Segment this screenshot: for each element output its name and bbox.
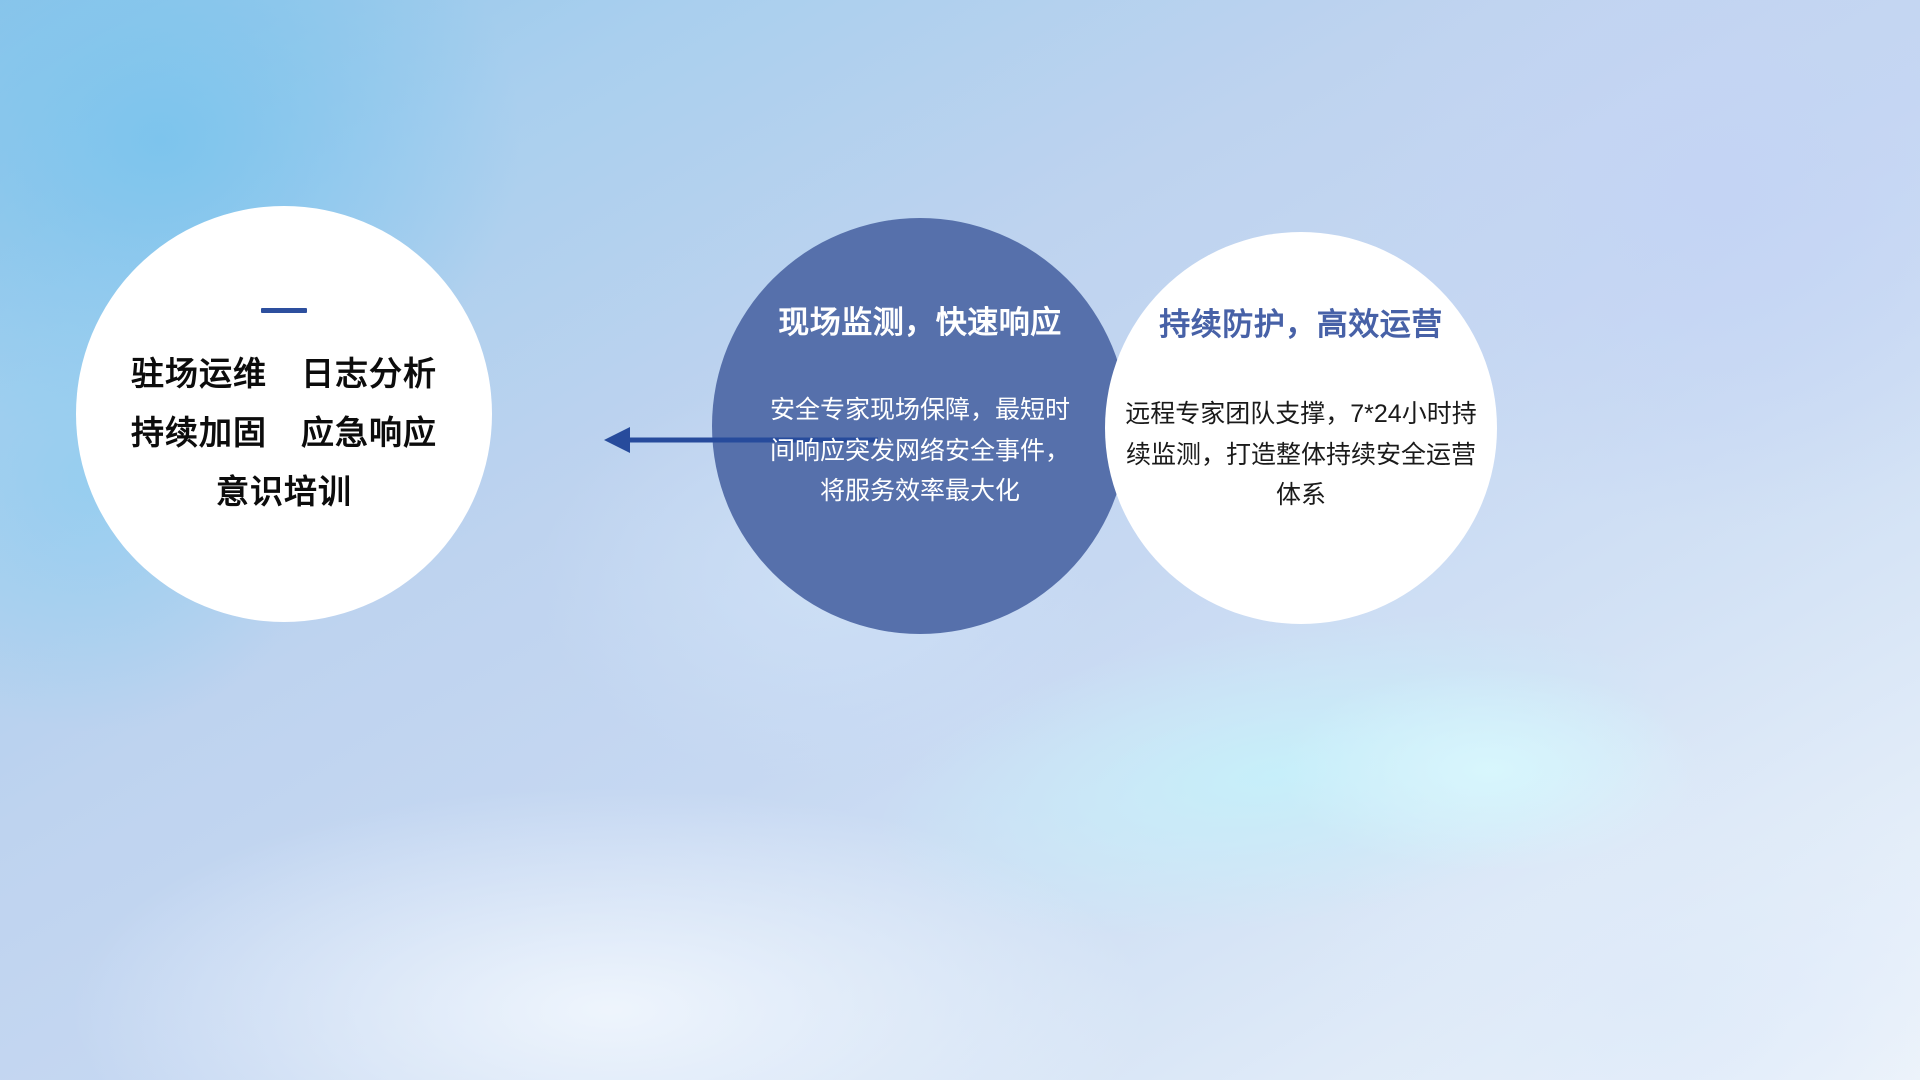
left-card-item-list: 驻场运维 日志分析 持续加固 应急响应 意识培训: [131, 357, 437, 508]
list-item: 持续加固 应急响应: [131, 416, 437, 449]
middle-card-title: 现场监测，快速响应: [778, 306, 1062, 340]
slide-canvas: 驻场运维 日志分析 持续加固 应急响应 意识培训 现场监测，快速响应 安全专家现…: [0, 0, 1920, 1080]
middle-card-body: 安全专家现场保障，最短时间响应突发网络安全事件，将服务效率最大化: [770, 390, 1070, 512]
list-item: 驻场运维 日志分析: [131, 357, 437, 390]
list-item: 意识培训: [216, 475, 352, 508]
middle-card: 现场监测，快速响应 安全专家现场保障，最短时间响应突发网络安全事件，将服务效率最…: [712, 218, 1128, 634]
horizontal-dash-accent: [261, 308, 307, 313]
right-card: 持续防护，高效运营 远程专家团队支撑，7*24小时持续监测，打造整体持续安全运营…: [1105, 232, 1497, 624]
left-card: 驻场运维 日志分析 持续加固 应急响应 意识培训: [76, 206, 492, 622]
arrow-head: [604, 427, 630, 453]
right-card-body: 远程专家团队支撑，7*24小时持续监测，打造整体持续安全运营体系: [1125, 394, 1477, 516]
right-card-title: 持续防护，高效运营: [1159, 308, 1443, 342]
